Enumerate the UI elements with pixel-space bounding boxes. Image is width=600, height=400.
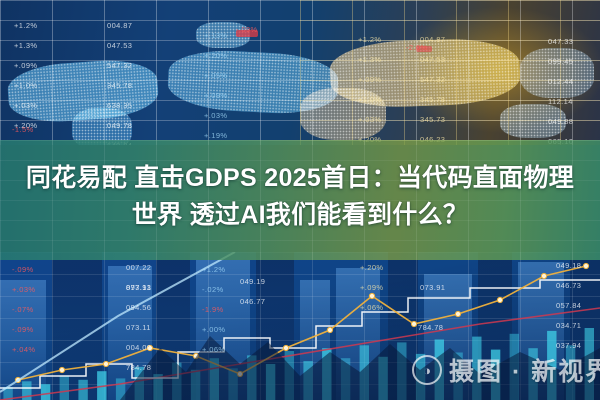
bottom-marker-label: 073.91 bbox=[420, 278, 445, 298]
bottom-price-column-left: 007.22 097.13 094.56 073.11 004.00 784.7… bbox=[126, 258, 151, 378]
top-percent-column-left: +1.2% +1.3% +.09% +1.0% +.03% +.20% bbox=[14, 16, 37, 136]
headline-line-2: 世界 透过AI我们能看到什么？ bbox=[0, 197, 600, 234]
bottom-price-column-right: 049.18 046.73 057.84 034.71 037.94 bbox=[556, 256, 581, 356]
bottom-percent-column-mid: +1.2% -.02% -1.9% +.00% +.06% bbox=[202, 260, 225, 360]
top-percent-column-mid: +.13% +.20% +.05% +.09% +.03% +.19% bbox=[204, 26, 227, 145]
bottom-percent-column-left: -.09% +.03% -.07% -.09% +.04% bbox=[12, 260, 35, 360]
top-price-column-left: 004.87 047.53 547.32 345.78 638.35 049.7… bbox=[107, 16, 132, 145]
top-price-column-right: 047.33 099.45 012.44 112.14 049.88 065.1… bbox=[548, 32, 573, 145]
bottom-marker-label-3: 873.91 bbox=[126, 278, 151, 298]
stock-photo-banner: +1.2% +1.3% +.09% +1.0% +.03% +.20% 004.… bbox=[0, 0, 600, 400]
top-percent-column-right: +1.2% +1.3% +.09% +1.0% +.03% +.20% bbox=[358, 30, 381, 145]
bottom-percent-column-right: +.20% +.09% +.06% bbox=[360, 258, 383, 318]
watermark-text: 摄图 · 新视界 bbox=[449, 352, 600, 388]
top-alert-values: -1.5% bbox=[12, 120, 34, 140]
top-alert-values-2: -.09% bbox=[236, 20, 258, 40]
world-map-panel: +1.2% +1.3% +.09% +1.0% +.03% +.20% 004.… bbox=[0, 0, 600, 145]
watermark-logo-icon: ◑ bbox=[412, 355, 442, 385]
headline: 同花易配 直击GDPS 2025首日：当代码直面物理 世界 透过AI我们能看到什… bbox=[0, 160, 600, 234]
headline-line-1: 同花易配 直击GDPS 2025首日：当代码直面物理 bbox=[0, 160, 600, 197]
bottom-price-column-mid: 049.19 046.77 bbox=[240, 272, 265, 312]
top-alert-values-3: -2.0% bbox=[406, 38, 428, 58]
bottom-marker-label-2: 784.78 bbox=[418, 318, 443, 338]
watermark: ◑ 摄图 · 新视界 bbox=[412, 352, 600, 388]
